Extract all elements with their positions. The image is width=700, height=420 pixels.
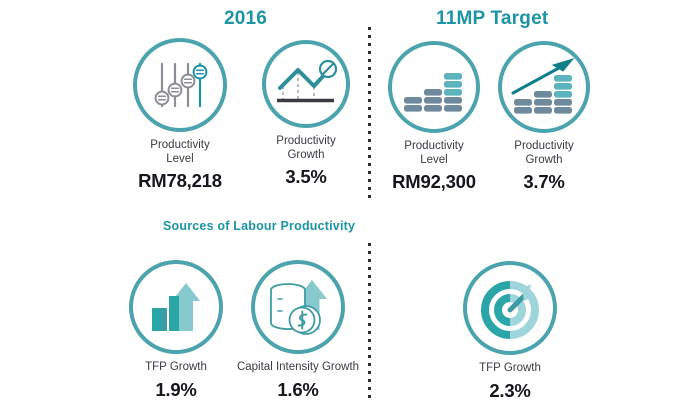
metric-productivity-growth-11mp: Productivity Growth 3.7% — [488, 41, 600, 193]
icon-circle — [133, 38, 227, 132]
bar-chart-arrow-icon — [133, 264, 219, 350]
metric-value: RM78,218 — [100, 170, 260, 192]
metric-productivity-level-2016: Productivity Level RM78,218 — [100, 38, 260, 192]
coins-arrow-icon — [255, 264, 341, 350]
metric-caption: Productivity Growth — [238, 135, 374, 162]
stacked-bars-icon — [392, 45, 476, 129]
metric-value: RM92,300 — [378, 171, 490, 193]
metric-value: 1.6% — [228, 379, 368, 401]
caption-line-1: TFP Growth — [112, 361, 240, 375]
caption-line-1: Productivity — [100, 139, 260, 153]
bars-with-arrow-icon — [502, 45, 586, 129]
metric-caption: TFP Growth — [450, 362, 570, 376]
metric-caption: Productivity Growth — [488, 140, 600, 167]
sliders-icon — [137, 42, 223, 128]
icon-circle — [262, 40, 350, 128]
icon-circle — [463, 261, 557, 355]
metric-caption: Productivity Level — [100, 139, 260, 166]
icon-circle — [498, 41, 590, 133]
caption-line-1: TFP Growth — [450, 362, 570, 376]
target-arrow-icon — [467, 265, 553, 351]
infographic-canvas: 2016 11MP Target Sources of Labour Produ… — [0, 0, 700, 420]
metric-value: 3.5% — [238, 166, 374, 188]
metric-value: 3.7% — [488, 171, 600, 193]
icon-circle — [129, 260, 223, 354]
caption-line-2: Growth — [488, 154, 600, 168]
metric-caption: TFP Growth — [112, 361, 240, 375]
metric-productivity-level-11mp: Productivity Level RM92,300 — [378, 41, 490, 193]
metric-caption: Productivity Level — [378, 140, 490, 167]
caption-line-2: Level — [100, 153, 260, 167]
caption-line-1: Productivity — [238, 135, 374, 149]
section-title-2016: 2016 — [224, 8, 267, 30]
caption-line-1: Productivity — [378, 140, 490, 154]
metric-caption: Capital Intensity Growth — [228, 361, 368, 375]
section-title-11mp-target: 11MP Target — [436, 8, 548, 30]
metric-capital-intensity-growth: Capital Intensity Growth 1.6% — [228, 260, 368, 401]
metric-tfp-growth-target: TFP Growth 2.3% — [450, 261, 570, 402]
section-title-sources-of-labour-productivity: Sources of Labour Productivity — [163, 219, 355, 233]
metric-value: 1.9% — [112, 379, 240, 401]
icon-circle — [251, 260, 345, 354]
metric-tfp-growth: TFP Growth 1.9% — [112, 260, 240, 401]
icon-circle — [388, 41, 480, 133]
caption-line-1: Capital Intensity Growth — [228, 361, 368, 375]
caption-line-1: Productivity — [488, 140, 600, 154]
caption-line-2: Growth — [238, 149, 374, 163]
caption-line-2: Level — [378, 154, 490, 168]
metric-value: 2.3% — [450, 380, 570, 402]
metric-productivity-growth-2016: Productivity Growth 3.5% — [238, 40, 374, 188]
vertical-dotted-divider-bottom — [368, 243, 371, 401]
line-chart-icon — [266, 44, 346, 124]
